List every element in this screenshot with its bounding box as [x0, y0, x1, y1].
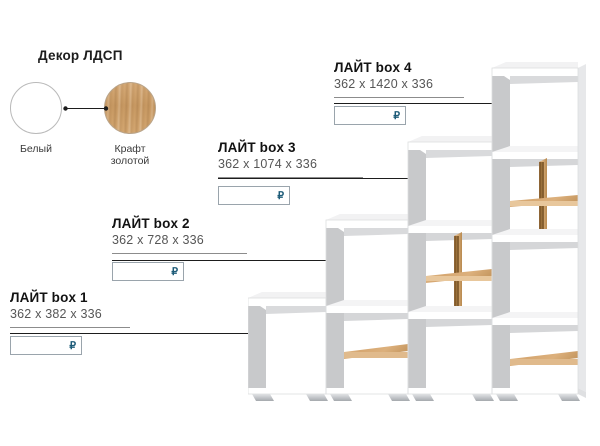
product-title-1: ЛАЙТ box 1 [10, 290, 130, 305]
decor-section-title: Декор ЛДСП [38, 48, 123, 63]
ruble-icon-1: ₽ [69, 340, 76, 351]
white-swatch-label: Белый [0, 143, 79, 155]
kraft-swatch-label: Крафт золотой [87, 143, 173, 167]
stepped-shelving-unit [248, 62, 588, 402]
product-spec-box-1: ЛАЙТ box 1 362 x 382 x 336 ₽ [10, 290, 130, 355]
product-dimensions-2: 362 x 728 x 336 [112, 233, 247, 247]
price-input-1[interactable]: ₽ [10, 336, 82, 355]
product-title-2: ЛАЙТ box 2 [112, 216, 247, 231]
spec-divider-1 [10, 327, 130, 328]
product-dimensions-1: 362 x 382 x 336 [10, 307, 130, 321]
product-spec-box-2: ЛАЙТ box 2 362 x 728 x 336 ₽ [112, 216, 247, 281]
kraft-label-line1: Крафт [114, 143, 145, 155]
spec-divider-2 [112, 253, 247, 254]
kraft-label-line2: золотой [111, 155, 150, 167]
ruble-icon-2: ₽ [171, 266, 178, 277]
leader-line-1 [10, 329, 275, 338]
white-swatch [10, 82, 62, 134]
decor-arrow-icon [63, 104, 109, 113]
illustration-canvas: Декор ЛДСП Белый Крафт золотой ЛАЙТ box … [0, 0, 600, 446]
kraft-swatch [104, 82, 156, 134]
